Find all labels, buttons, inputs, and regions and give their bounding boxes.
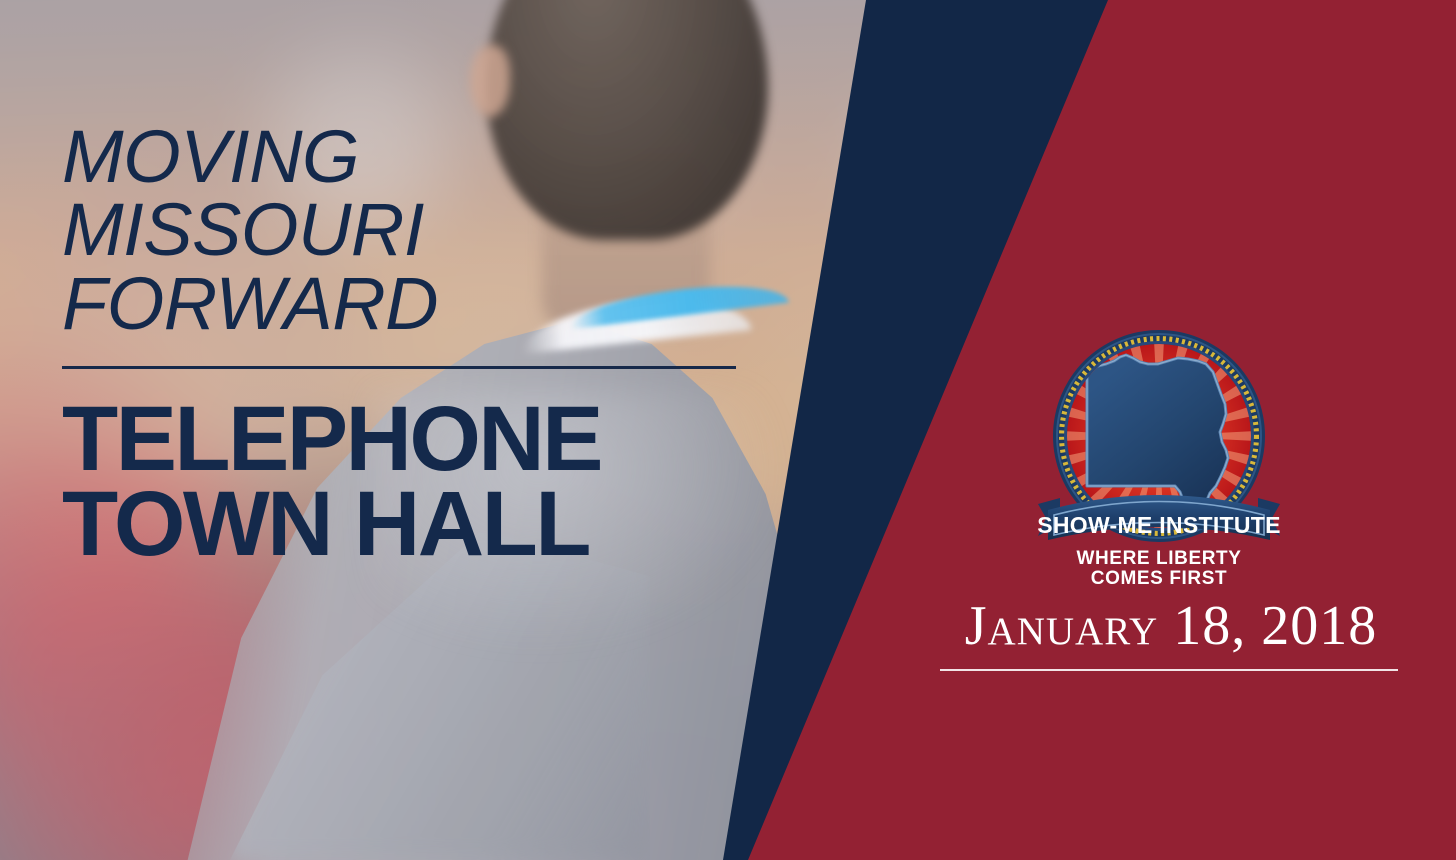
headline-line-2: MISSOURI — [62, 193, 762, 266]
event-date: January 18, 2018 — [940, 598, 1402, 655]
headline-divider-rule — [62, 366, 736, 369]
logo-tagline-line-1: WHERE LIBERTY — [1076, 548, 1241, 569]
event-date-underline — [940, 669, 1398, 671]
show-me-institute-logo: SHOW-ME INSTITUTE WHERE LIBERTY COMES FI… — [1030, 328, 1288, 590]
subhead-block: TELEPHONE TOWN HALL — [62, 397, 762, 568]
subhead-line-1: TELEPHONE — [62, 397, 762, 483]
logo-tagline-line-2: COMES FIRST — [1091, 568, 1227, 589]
logo-organization-name: SHOW-ME INSTITUTE — [1037, 512, 1281, 538]
logo-ribbon-banner: SHOW-ME INSTITUTE — [1037, 495, 1281, 540]
speaker-ear — [470, 45, 510, 117]
headline-line-3: FORWARD — [62, 267, 762, 340]
logo-seal-icon: SHOW-ME INSTITUTE WHERE LIBERTY COMES FI… — [1030, 328, 1288, 590]
event-poster: MOVING MISSOURI FORWARD TELEPHONE TOWN H… — [0, 0, 1456, 860]
event-date-block: January 18, 2018 — [940, 598, 1402, 671]
headline-block: MOVING MISSOURI FORWARD TELEPHONE TOWN H… — [62, 120, 762, 568]
headline-line-1: MOVING — [62, 120, 762, 193]
subhead-line-2: TOWN HALL — [62, 482, 762, 568]
